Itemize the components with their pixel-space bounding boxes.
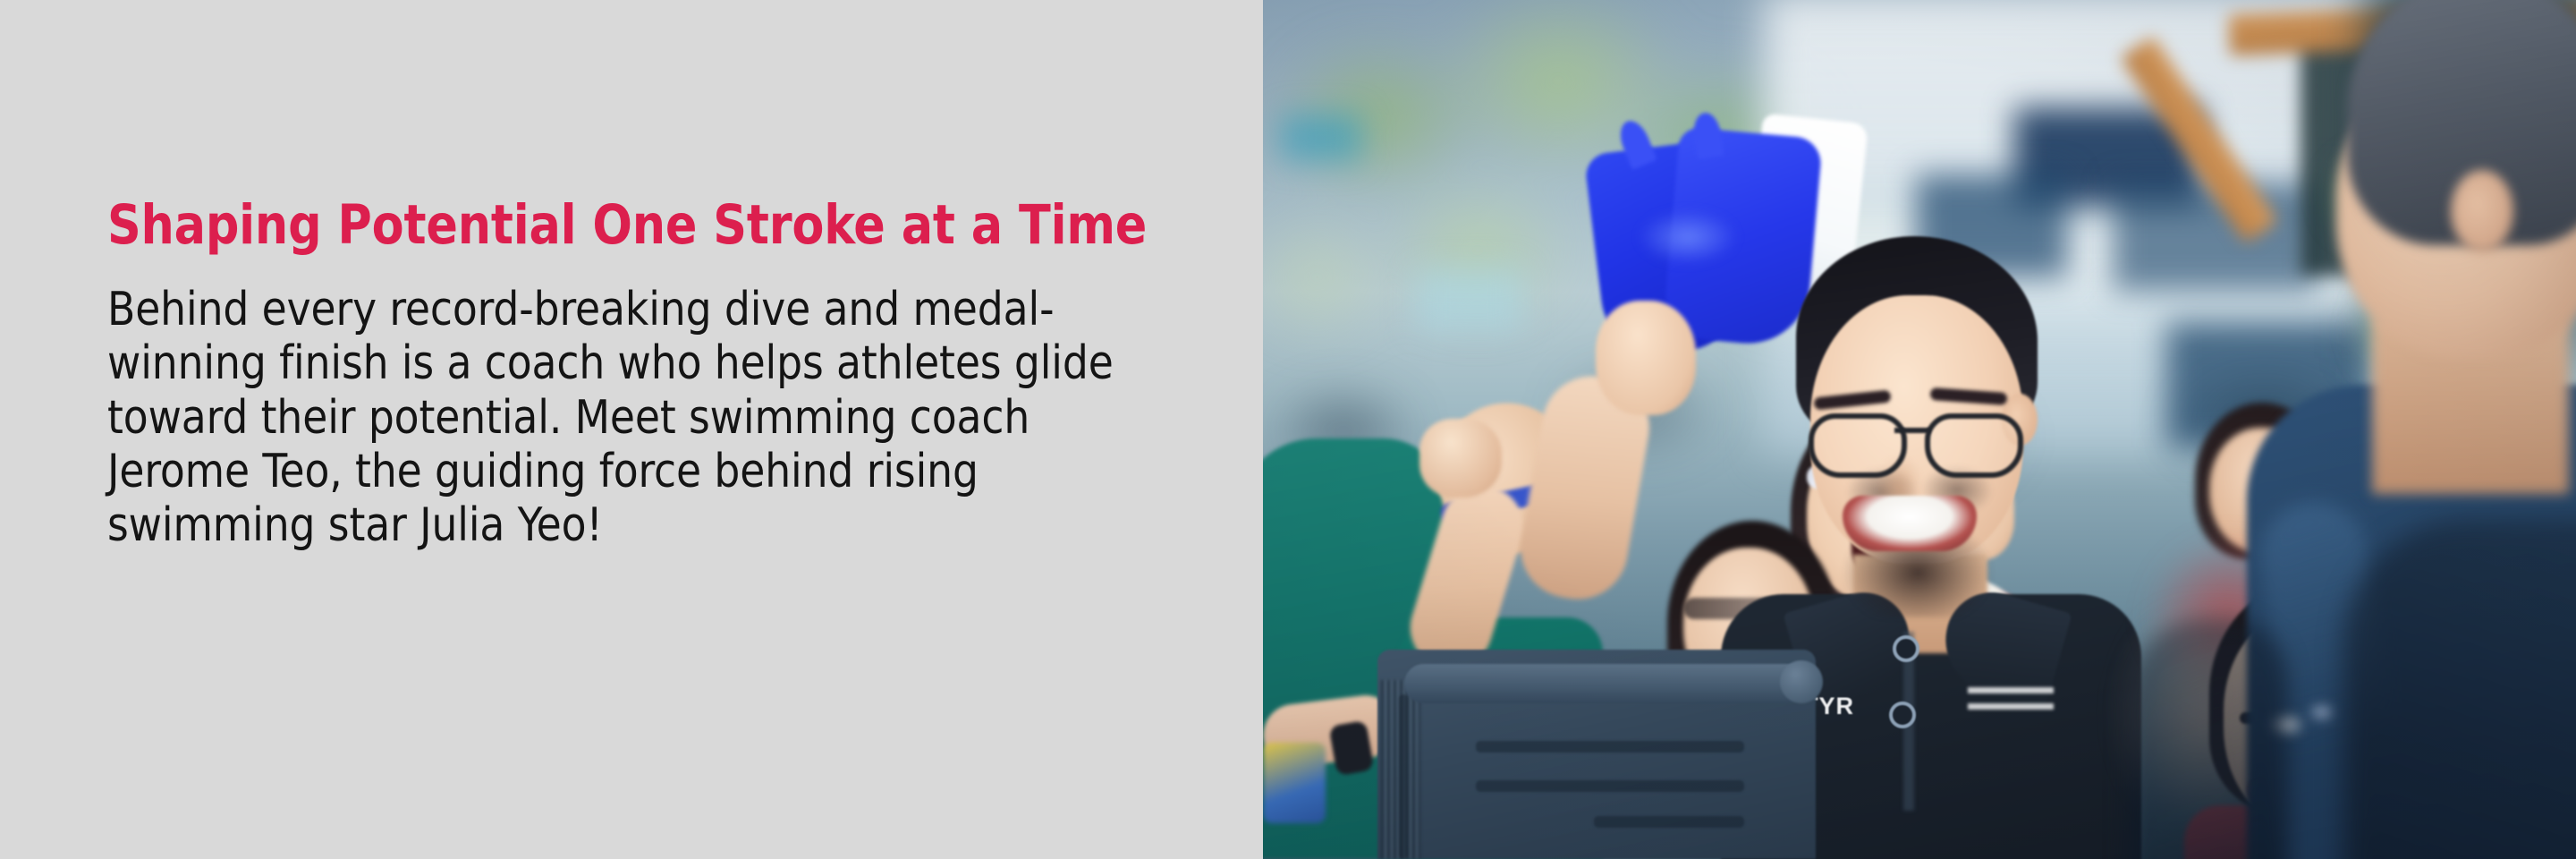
photo-background-window [2113,183,2318,291]
woman-face [1683,548,1814,705]
bald-man-body [1397,617,1603,859]
swim-fin-tip [1614,116,1657,169]
bench-groove [1476,780,1744,792]
tyr-logo: TYR [1803,693,1854,720]
grey-haired-man-shirt-fold [2254,495,2402,802]
smiling-girl-hair [2209,580,2420,812]
cheering-girl-swimsuit [1764,591,2032,796]
photo-background-crowd [1263,358,2576,591]
cheering-girl-strap [1860,576,2036,654]
background-girl-face [2209,428,2315,553]
coach-neck [1853,555,1987,653]
poolside-bench [1377,650,1816,859]
coach-shirt-placket [1903,632,1914,811]
photo-background-shade [2361,0,2576,358]
grey-haired-man-neck [2372,315,2569,494]
grey-haired-man-chest-logo [2250,689,2358,770]
smiling-girl-eye [2240,712,2267,724]
bald-man-glasses [1439,483,1548,524]
coach-glasses-lens-left [1809,413,1907,478]
woman-hair [1667,521,1837,727]
coach-glasses-bridge [1894,428,1930,433]
coach-face [1810,295,2023,564]
person-teal-shirt [1263,438,1446,859]
swim-fin-tip [1691,111,1724,159]
photo-background-window [1281,115,1361,161]
coach-smile [1843,496,1977,551]
woman-glasses [1683,598,1816,619]
coach-glasses-lens-right [1925,413,2023,478]
background-swimmer [2123,617,2302,832]
coach-raised-hand [1596,301,1696,415]
coach-collar-left [1783,582,1921,709]
bench-mesh-panel [1381,680,1420,859]
background-girl-hair [2195,403,2329,559]
photo-background-building [1764,0,2390,456]
cheering-girl-glasses [1807,465,1950,489]
bald-man-fist [1419,419,1502,498]
swim-fin-left [1584,140,1742,361]
grey-haired-man-shirt [2247,385,2576,859]
coach-raised-arm [1513,368,1657,607]
smiling-girl-smile [2247,777,2326,809]
wristwatch [1328,720,1374,776]
text-panel: Shaping Potential One Stroke at a Time B… [0,0,1263,859]
canopy-glare [2403,63,2560,255]
grey-haired-man-ear [2451,170,2513,252]
cheering-girl-hair [1791,401,1970,625]
coach-ear [2002,394,2038,446]
bench-groove [1476,741,1744,753]
foreground-shoulder-right [2343,519,2576,859]
photo-background-window [2166,322,2372,447]
bench-groove [1399,694,1408,859]
person-teal-arm [1263,692,1401,770]
coach-collar-right [1933,582,2072,709]
photo-background-window [1415,268,1522,331]
background-red-shirt [2148,537,2309,698]
photo-background-window [2014,107,2202,206]
swim-fin-highlight [1639,210,1737,264]
cheering-girl-face [1807,428,1948,603]
bench-knob [1780,660,1823,703]
coach-nose [1875,453,1923,503]
photo-vignette [1263,0,2576,859]
coach-polo-shirt [1721,594,2141,859]
bald-man-arm [1400,475,1533,679]
canopy-dark-panel [2301,43,2576,276]
smiling-girl-hair-part [2258,580,2276,634]
coach-beard [1814,465,2021,617]
coach-shirt-button [1893,635,1919,662]
white-towel [1743,113,1868,315]
foreground-shoulder-left [2127,617,2288,859]
canopy-beam-diagonal [2121,36,2278,243]
article-banner: Shaping Potential One Stroke at a Time B… [0,0,2576,859]
photo-background-window [1916,174,2068,277]
coach-chest-embroidery [1968,687,2054,723]
cheering-girl-mouth [1851,519,1905,574]
photo-background-sky [1263,0,2576,859]
photo-background-trees [1263,0,1961,483]
smiling-girl-face [2224,614,2383,825]
bench-rail [1404,664,1807,703]
swim-fin-right [1662,126,1823,348]
lanyard [1263,743,1326,823]
swim-fins [1585,116,1853,376]
cheering-girl-hand [1936,462,2014,560]
smiling-girl-body [2184,805,2435,859]
coach-hair [1796,236,2038,442]
coach-shirt-button [1889,702,1916,728]
coach-eyebrow [1930,387,2008,405]
coach-glasses [1798,413,2032,467]
bench-groove [1594,816,1744,828]
bald-man-head [1420,386,1597,569]
canopy-beam-structure [2166,0,2576,268]
canopy-beam-top [2228,0,2576,55]
hero-photo: TYR [1263,0,2576,859]
photo-background-foliage [2326,134,2540,403]
coach-eyebrow [1814,390,1892,411]
smiling-girl-eye [2311,709,2338,720]
grey-haired-man-head [2336,63,2576,358]
page-title: Shaping Potential One Stroke at a Time [107,197,1142,254]
grey-haired-man-hair [2347,0,2576,245]
body-paragraph: Behind every record-breaking dive and me… [107,283,1165,553]
